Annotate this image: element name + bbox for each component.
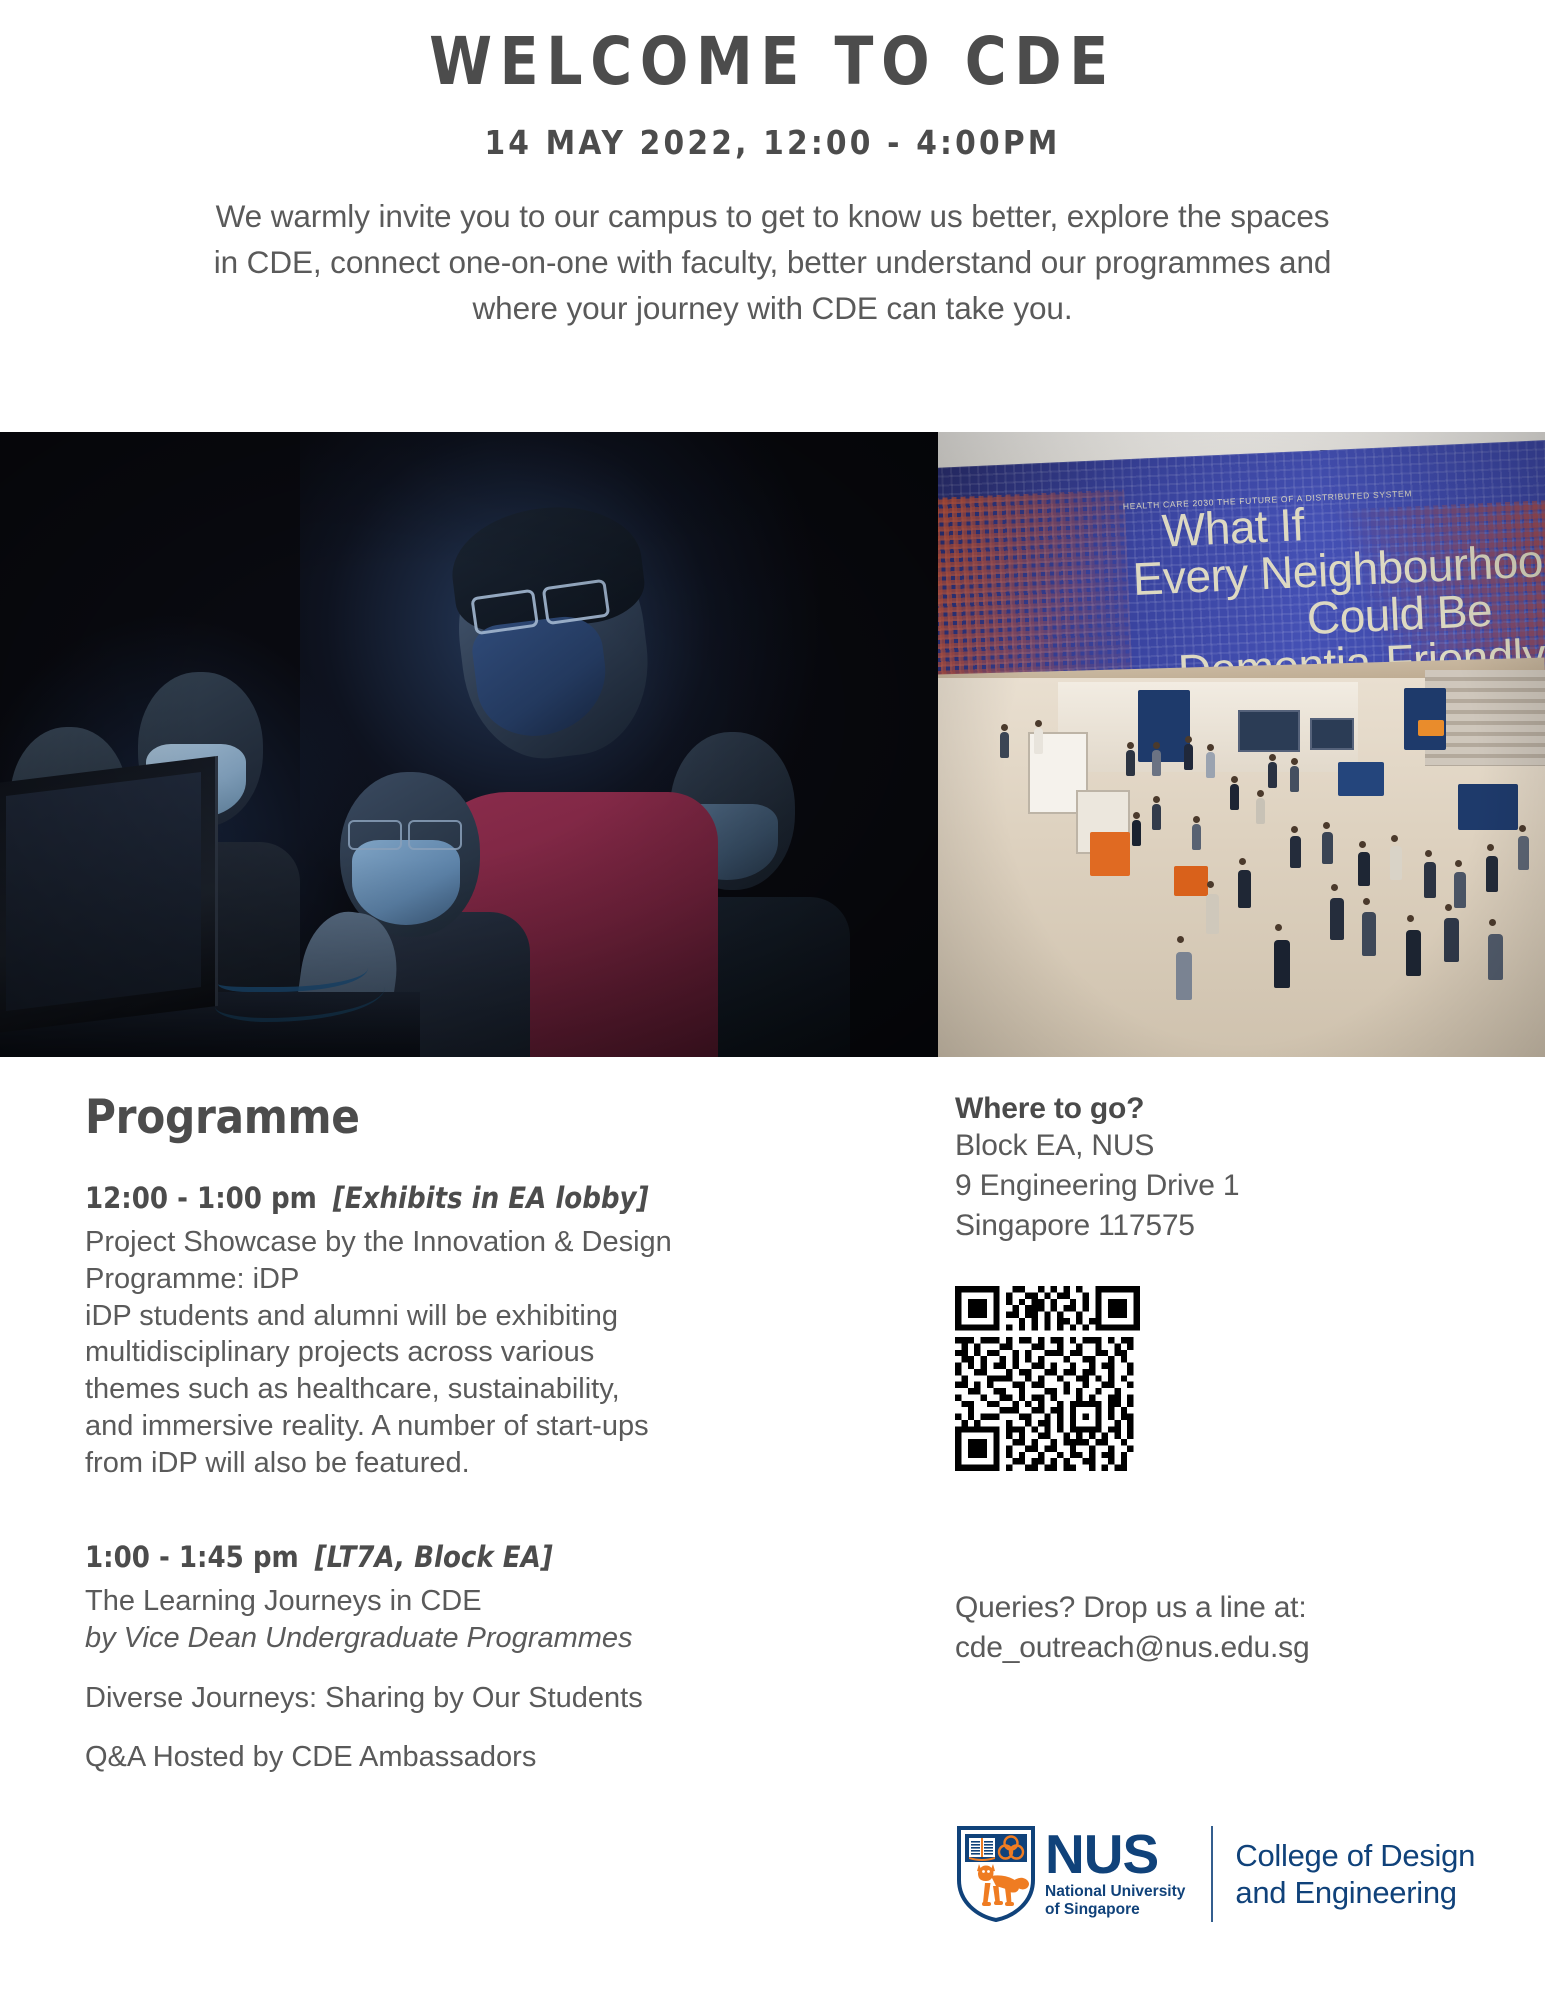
slot-description: Project Showcase by the Innovation & Des…	[85, 1224, 875, 1482]
slot-line: from iDP will also be featured.	[85, 1445, 875, 1482]
queries-prompt: Queries? Drop us a line at:	[955, 1588, 1475, 1628]
slot-line: Project Showcase by the Innovation & Des…	[85, 1224, 875, 1261]
slot-line: Programme: iDP	[85, 1261, 875, 1298]
nus-wordmark: NUS National University of Singapore	[1045, 1829, 1185, 1919]
slot-time-row: 12:00 - 1:00 pm[Exhibits in EA lobby]	[85, 1181, 875, 1215]
slot-time: 12:00 - 1:00 pm	[85, 1181, 317, 1215]
address-line: 9 Engineering Drive 1	[955, 1166, 1475, 1206]
nus-shield-icon	[957, 1826, 1035, 1922]
programme-column: Programme 12:00 - 1:00 pm[Exhibits in EA…	[85, 1090, 875, 1774]
page-title: WELCOME TO CDE	[31, 26, 1514, 97]
photo-students-at-laptop	[0, 432, 938, 1057]
slot-description: The Learning Journeys in CDE by Vice Dea…	[85, 1583, 875, 1657]
slot-time: 1:00 - 1:45 pm	[85, 1540, 299, 1574]
slot-line: themes such as healthcare, sustainabilit…	[85, 1371, 875, 1408]
slot-extra-line: Q&A Hosted by CDE Ambassadors	[85, 1741, 875, 1774]
programme-slot: 1:00 - 1:45 pm[LT7A, Block EA] The Learn…	[85, 1540, 875, 1775]
nus-name-line: National University	[1045, 1883, 1185, 1901]
event-datetime: 14 MAY 2022, 12:00 - 4:00PM	[0, 123, 1545, 162]
college-name: College of Design and Engineering	[1235, 1837, 1475, 1911]
slot-byline: by Vice Dean Undergraduate Programmes	[85, 1620, 875, 1657]
slot-venue: [LT7A, Block EA]	[315, 1540, 553, 1574]
programme-heading: Programme	[85, 1090, 875, 1145]
nus-cde-logo: NUS National University of Singapore Col…	[957, 1826, 1475, 1922]
photo-vignette	[0, 432, 938, 1057]
slot-extra-line: Diverse Journeys: Sharing by Our Student…	[85, 1682, 875, 1715]
programme-slot: 12:00 - 1:00 pm[Exhibits in EA lobby] Pr…	[85, 1181, 875, 1482]
qr-code[interactable]	[955, 1286, 1140, 1471]
nus-name-line: of Singapore	[1045, 1901, 1185, 1919]
intro-paragraph: We warmly invite you to our campus to ge…	[213, 194, 1333, 331]
where-to-go-heading: Where to go?	[955, 1092, 1475, 1126]
address-line: Singapore 117575	[955, 1206, 1475, 1246]
slot-venue: [Exhibits in EA lobby]	[333, 1181, 649, 1215]
info-column: Where to go? Block EA, NUS 9 Engineering…	[955, 1092, 1475, 1667]
nus-full-name: National University of Singapore	[1045, 1883, 1185, 1919]
slot-line: multidisciplinary projects across variou…	[85, 1334, 875, 1371]
contact-email[interactable]: cde_outreach@nus.edu.sg	[955, 1628, 1475, 1668]
photo-vignette	[938, 432, 1545, 1057]
college-name-line: and Engineering	[1235, 1874, 1475, 1911]
slot-line: iDP students and alumni will be exhibiti…	[85, 1298, 875, 1335]
poster-header: WELCOME TO CDE 14 MAY 2022, 12:00 - 4:00…	[0, 0, 1545, 331]
photo-band: HEALTH CARE 2030 THE FUTURE OF A DISTRIB…	[0, 432, 1545, 1057]
slot-line: The Learning Journeys in CDE	[85, 1583, 875, 1620]
nus-acronym: NUS	[1045, 1829, 1185, 1880]
slot-line: and immersive reality. A number of start…	[85, 1408, 875, 1445]
slot-time-row: 1:00 - 1:45 pm[LT7A, Block EA]	[85, 1540, 875, 1574]
address-line: Block EA, NUS	[955, 1126, 1475, 1166]
photo-exhibition-hall: HEALTH CARE 2030 THE FUTURE OF A DISTRIB…	[938, 432, 1545, 1057]
queries-block: Queries? Drop us a line at: cde_outreach…	[955, 1588, 1475, 1668]
logo-divider	[1211, 1826, 1213, 1922]
college-name-line: College of Design	[1235, 1837, 1475, 1874]
